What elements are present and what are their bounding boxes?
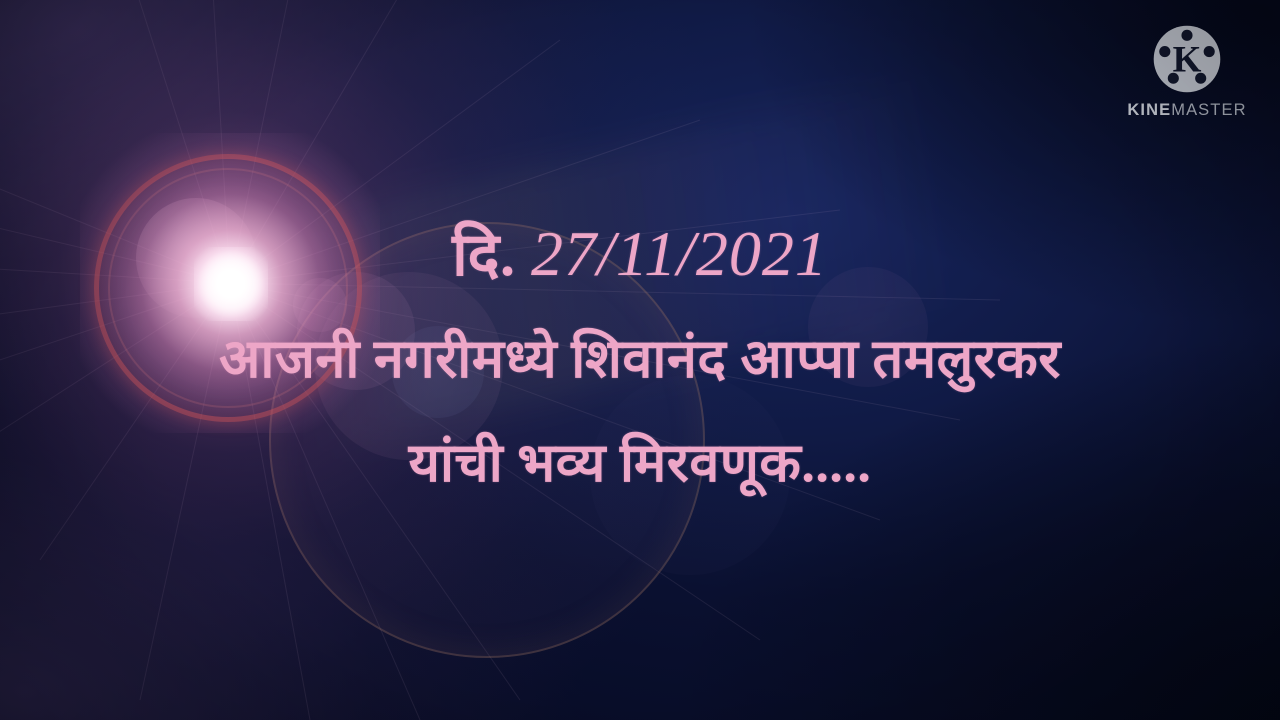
date-prefix: दि. <box>452 222 515 288</box>
kinemaster-brand-text: KINEMASTER <box>1127 101 1246 120</box>
svg-text:K: K <box>1173 40 1202 81</box>
kinemaster-logo-icon: K <box>1150 22 1224 96</box>
brand-master: MASTER <box>1171 101 1246 119</box>
headline-line-1: आजनी नगरीमध्ये शिवानंद आप्पा तमलुरकर <box>0 332 1280 386</box>
headline-line-2: यांची भव्य मिरवणूक..... <box>0 436 1280 490</box>
video-slide-canvas: दि. 27/11/2021 आजनी नगरीमध्ये शिवानंद आप… <box>0 0 1280 720</box>
date-line: दि. 27/11/2021 <box>0 222 1280 286</box>
brand-kine: KINE <box>1127 101 1171 119</box>
date-value: 27/11/2021 <box>531 218 828 289</box>
kinemaster-watermark: K KINEMASTER <box>1122 22 1252 120</box>
